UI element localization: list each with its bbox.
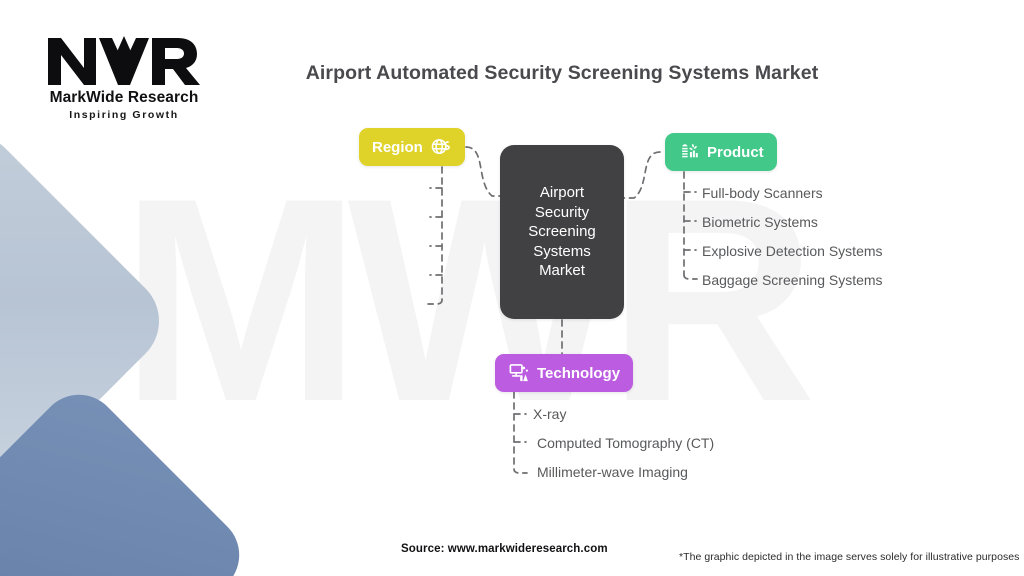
branch-label-technology: Technology	[537, 365, 620, 382]
branch-badge-product[interactable]: Product	[665, 133, 777, 171]
branch-badge-region[interactable]: Region	[359, 128, 465, 166]
leaf-item[interactable]: Biometric Systems	[702, 214, 818, 230]
center-node: Airport Security Screening Systems Marke…	[500, 145, 624, 319]
globe-language-icon	[430, 136, 452, 158]
leaf-item[interactable]: X-ray	[533, 406, 566, 422]
leaf-item[interactable]: Baggage Screening Systems	[702, 272, 883, 288]
leaf-item[interactable]: Computed Tomography (CT)	[537, 435, 714, 451]
branch-label-product: Product	[707, 144, 764, 161]
product-chart-icon	[678, 141, 700, 163]
monitor-device-icon	[508, 362, 530, 384]
disclaimer-label: *The graphic depicted in the image serve…	[679, 551, 1019, 563]
source-label: Source: www.markwideresearch.com	[401, 543, 608, 555]
mindmap-diagram: Airport Security Screening Systems Marke…	[0, 0, 1024, 576]
branch-badge-technology[interactable]: Technology	[495, 354, 633, 392]
leaf-item[interactable]: Millimeter-wave Imaging	[537, 464, 688, 480]
leaf-item[interactable]: Full-body Scanners	[702, 185, 823, 201]
branch-label-region: Region	[372, 139, 423, 156]
center-node-label: Airport Security Screening Systems Marke…	[528, 183, 596, 281]
leaf-item[interactable]: Explosive Detection Systems	[702, 243, 883, 259]
